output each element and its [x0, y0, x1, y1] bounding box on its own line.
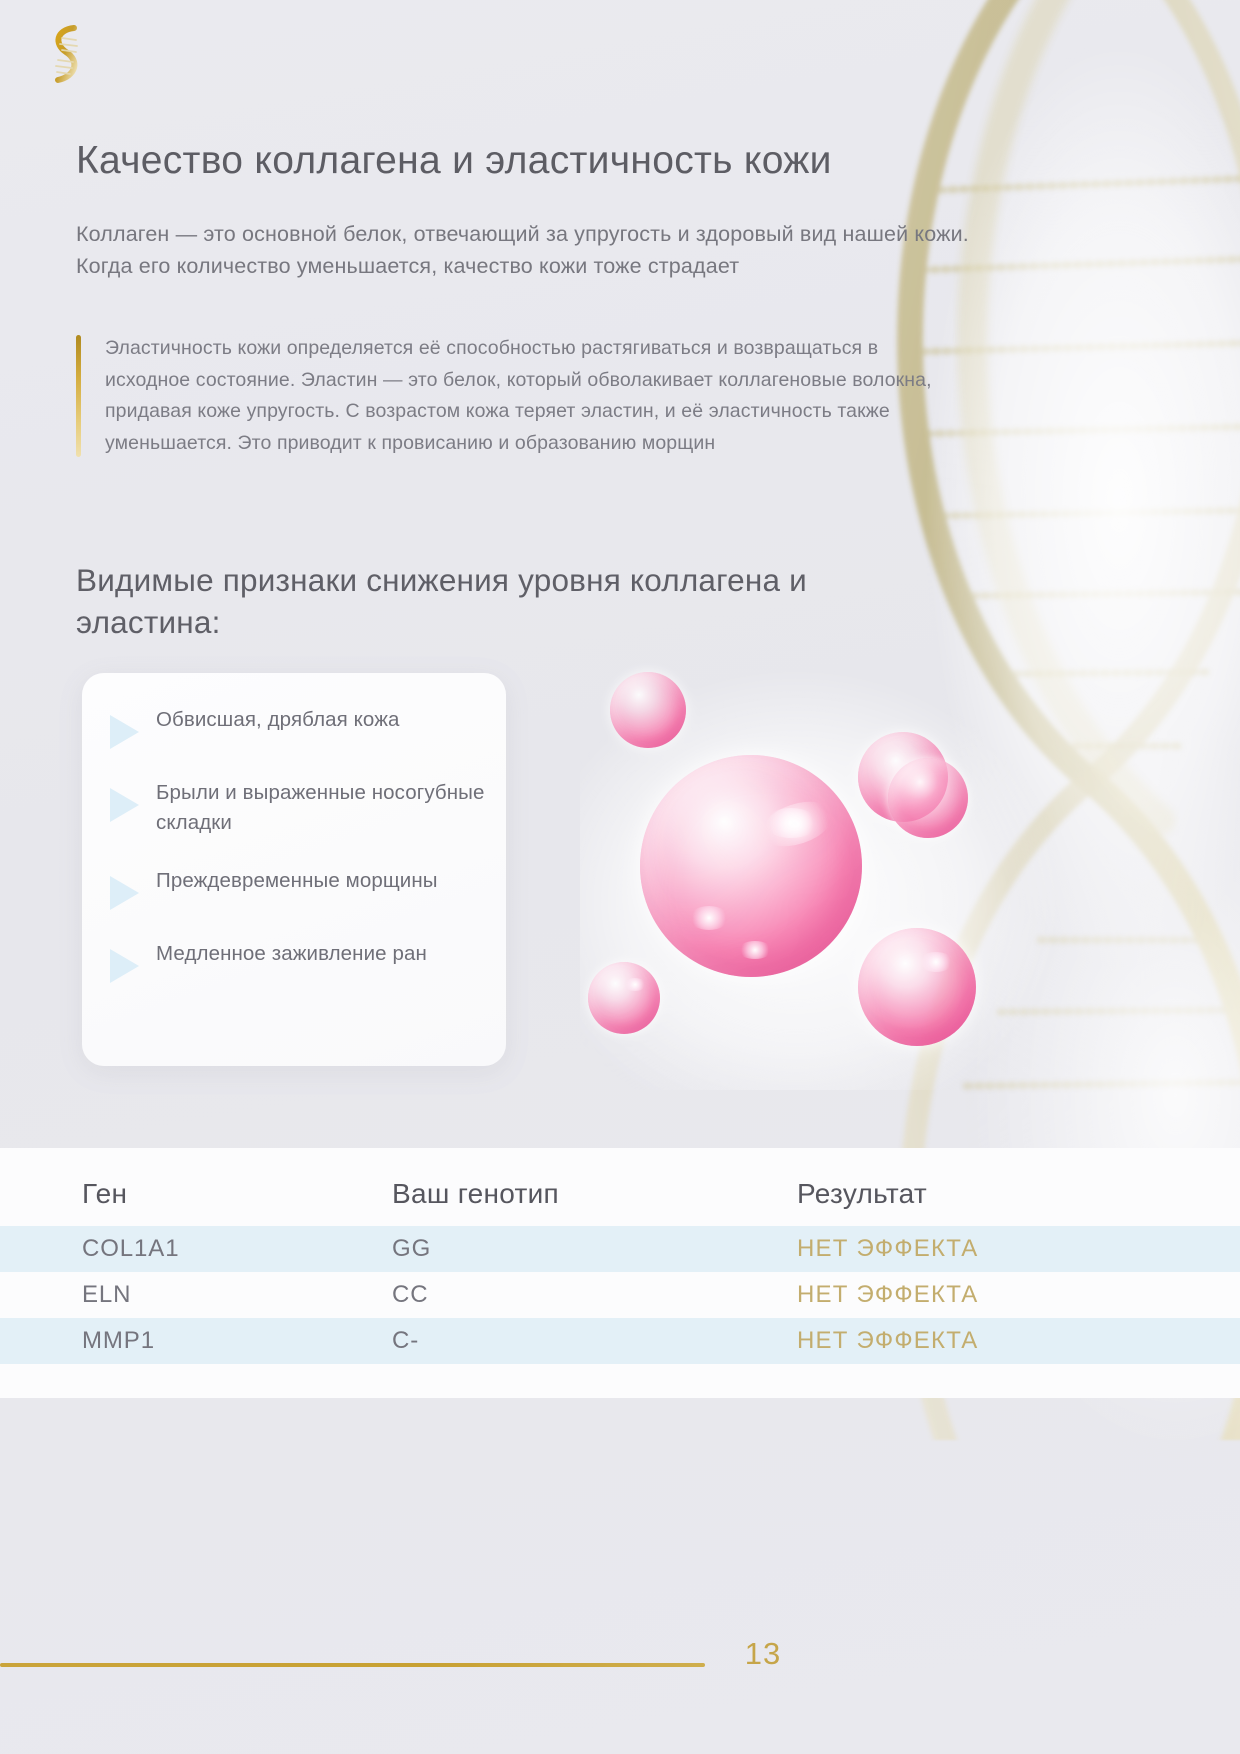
bubble-large-center: [640, 755, 862, 977]
column-header-result: Результат: [797, 1178, 1157, 1210]
bubble-medium-right-front: [888, 758, 968, 838]
footer-rule: [0, 1663, 705, 1667]
cell-gene: ELN: [82, 1281, 392, 1309]
list-item-label: Медленное заживление ран: [156, 935, 427, 969]
bubble-medium-bottom-right: [858, 928, 976, 1046]
page-title: Качество коллагена и эластичность кожи: [76, 138, 976, 184]
bubble-highlight: [738, 941, 772, 959]
triangle-right-icon: [110, 715, 139, 749]
cell-gene: MMP1: [82, 1327, 392, 1355]
table-row: MMP1 C- НЕТ ЭФФЕКТА: [0, 1318, 1240, 1364]
column-header-genotype: Ваш генотип: [392, 1178, 797, 1210]
report-page: Качество коллагена и эластичность кожи К…: [0, 0, 1240, 1754]
list-item-label: Преждевременные морщины: [156, 862, 438, 896]
intro-paragraph: Коллаген — это основной белок, отвечающи…: [76, 218, 976, 283]
list-item: Брыли и выраженные носогубные складки: [110, 774, 488, 837]
list-item-label: Брыли и выраженные носогубные складки: [156, 774, 488, 837]
signs-list: Обвисшая, дряблая кожа Брыли и выраженны…: [110, 701, 488, 983]
triangle-right-icon: [110, 876, 139, 910]
bubble-small-bottom-left: [588, 962, 660, 1034]
cell-genotype: C-: [392, 1327, 797, 1355]
results-table: Ген Ваш генотип Результат COL1A1 GG НЕТ …: [0, 1148, 1240, 1398]
bubble-small-top-left: [610, 672, 686, 748]
pink-collagen-bubbles-illustration: [540, 640, 1100, 1110]
triangle-right-icon: [110, 788, 139, 822]
cell-result: НЕТ ЭФФЕКТА: [797, 1235, 1157, 1263]
callout-accent-bar: [76, 335, 81, 457]
page-number: 13: [728, 1636, 798, 1672]
list-item: Медленное заживление ран: [110, 935, 488, 983]
dna-helix-icon: [36, 22, 96, 88]
callout-text: Эластичность кожи определяется её способ…: [105, 333, 956, 459]
triangle-right-icon: [110, 949, 139, 983]
bubble-highlight: [919, 952, 953, 972]
table-row: COL1A1 GG НЕТ ЭФФЕКТА: [0, 1226, 1240, 1272]
table-row: ELN CC НЕТ ЭФФЕКТА: [0, 1272, 1240, 1318]
list-item: Обвисшая, дряблая кожа: [110, 701, 488, 749]
list-item-label: Обвисшая, дряблая кожа: [156, 701, 400, 735]
cell-result: НЕТ ЭФФЕКТА: [797, 1327, 1157, 1355]
bubble-highlight: [764, 808, 818, 838]
bubble-highlight: [624, 978, 646, 991]
cell-result: НЕТ ЭФФЕКТА: [797, 1281, 1157, 1309]
bubble-glow: [580, 670, 1060, 1090]
bubble-medium-right-back: [858, 732, 948, 822]
cell-gene: COL1A1: [82, 1235, 392, 1263]
cell-genotype: GG: [392, 1235, 797, 1263]
bubble-highlight: [689, 906, 729, 930]
signs-card: Обвисшая, дряблая кожа Брыли и выраженны…: [82, 673, 506, 1066]
table-header-row: Ген Ваш генотип Результат: [0, 1148, 1240, 1226]
callout-quote: Эластичность кожи определяется её способ…: [76, 333, 956, 459]
signs-heading: Видимые признаки снижения уровня коллаге…: [76, 559, 876, 643]
cell-genotype: CC: [392, 1281, 797, 1309]
column-header-gene: Ген: [82, 1178, 392, 1210]
list-item: Преждевременные морщины: [110, 862, 488, 910]
